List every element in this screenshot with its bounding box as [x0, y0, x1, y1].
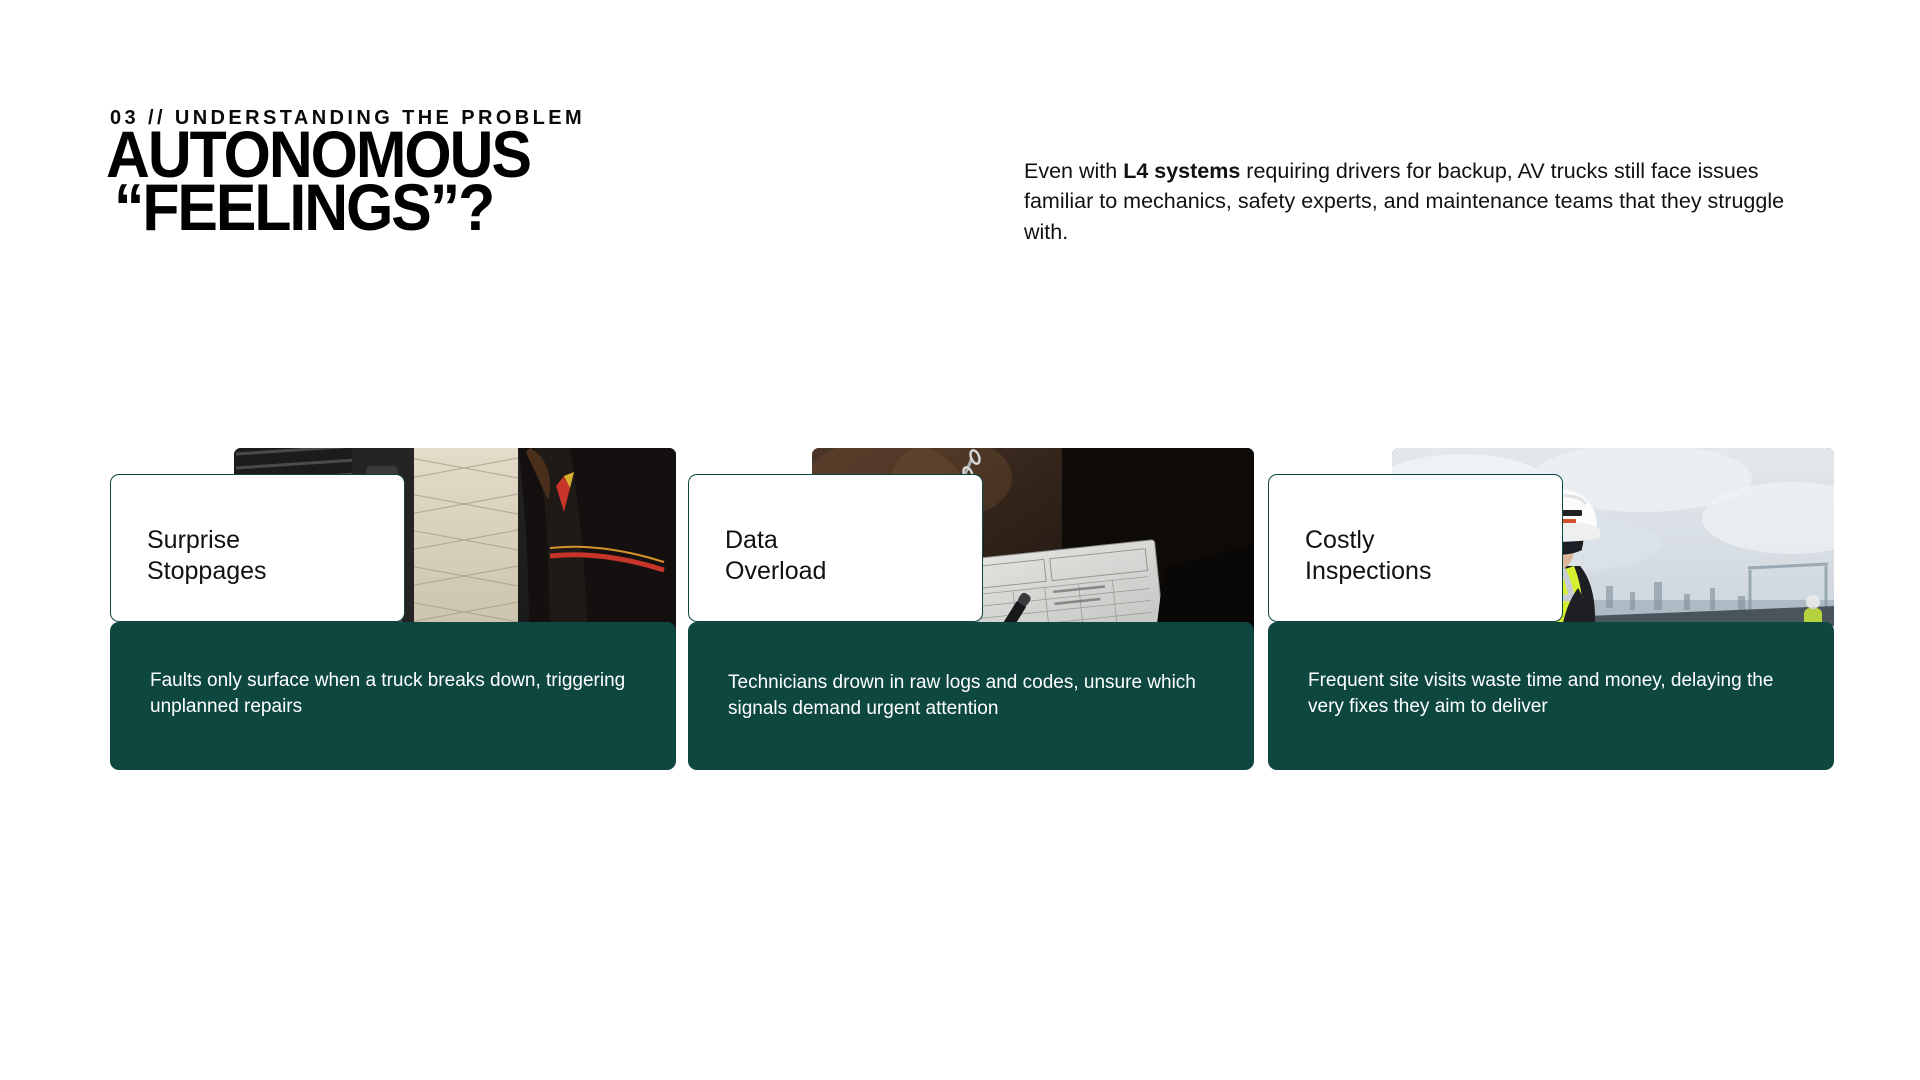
card-description: Faults only surface when a truck breaks …: [150, 668, 630, 720]
problem-card[interactable]: Technicians drown in raw logs and codes,…: [688, 440, 1254, 890]
problem-card[interactable]: Faults only surface when a truck breaks …: [110, 440, 676, 890]
card-description-panel: Frequent site visits waste time and mone…: [1268, 622, 1834, 770]
problem-card-group: Faults only surface when a truck breaks …: [0, 0, 1920, 1080]
slide-canvas: 03 // UNDERSTANDING THE PROBLEM AUTONOMO…: [0, 0, 1920, 1080]
card-title-box: Surprise Stoppages: [110, 474, 405, 622]
card-title-box: Data Overload: [688, 474, 983, 622]
card-description-panel: Faults only surface when a truck breaks …: [110, 622, 676, 770]
card-description-panel: Technicians drown in raw logs and codes,…: [688, 622, 1254, 770]
card-title: Surprise Stoppages: [147, 525, 267, 586]
problem-card[interactable]: Frequent site visits waste time and mone…: [1268, 440, 1834, 890]
card-description: Frequent site visits waste time and mone…: [1308, 668, 1788, 720]
card-title: Data Overload: [725, 525, 826, 586]
card-title: Costly Inspections: [1305, 525, 1431, 586]
card-title-box: Costly Inspections: [1268, 474, 1563, 622]
card-description: Technicians drown in raw logs and codes,…: [728, 670, 1208, 722]
